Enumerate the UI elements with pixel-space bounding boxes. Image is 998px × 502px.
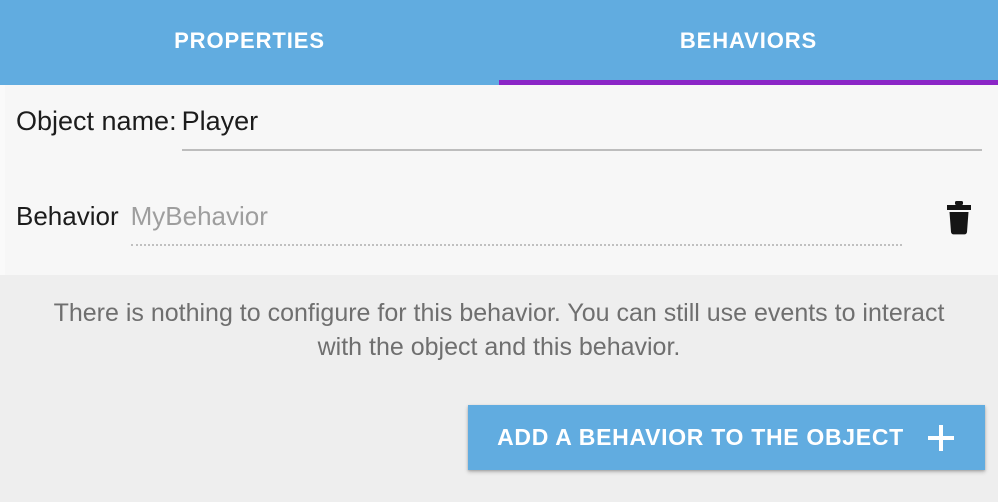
object-name-underline: [182, 149, 982, 151]
behavior-name-underline: [131, 244, 902, 246]
behavior-label: Behavior: [16, 203, 119, 229]
object-editor-panel: PROPERTIES BEHAVIORS Object name: Player…: [0, 0, 998, 502]
trash-icon: [944, 201, 974, 235]
tab-properties-label: PROPERTIES: [174, 28, 325, 54]
object-name-row: Object name: Player: [16, 108, 982, 145]
behavior-name-value: MyBehavior: [131, 203, 926, 239]
behavior-row: Behavior MyBehavior: [16, 203, 982, 249]
tab-bar: PROPERTIES BEHAVIORS: [0, 0, 998, 85]
object-name-label: Object name:: [16, 108, 177, 135]
tab-properties[interactable]: PROPERTIES: [0, 0, 499, 85]
delete-behavior-button[interactable]: [936, 195, 982, 241]
tab-behaviors-label: BEHAVIORS: [680, 28, 817, 54]
behavior-config-panel: There is nothing to configure for this b…: [0, 275, 998, 502]
plus-icon: [926, 423, 956, 453]
add-behavior-button-label: ADD A BEHAVIOR TO THE OBJECT: [497, 424, 904, 451]
left-edge-strip: [0, 85, 5, 275]
behavior-name-input[interactable]: MyBehavior: [131, 203, 926, 239]
empty-config-message: There is nothing to configure for this b…: [30, 297, 968, 365]
object-header-section: Object name: Player Behavior MyBehavior: [0, 85, 998, 275]
add-behavior-button[interactable]: ADD A BEHAVIOR TO THE OBJECT: [468, 405, 985, 470]
object-name-value: Player: [182, 108, 982, 145]
object-name-input[interactable]: Player: [182, 108, 982, 145]
tab-behaviors[interactable]: BEHAVIORS: [499, 0, 998, 85]
